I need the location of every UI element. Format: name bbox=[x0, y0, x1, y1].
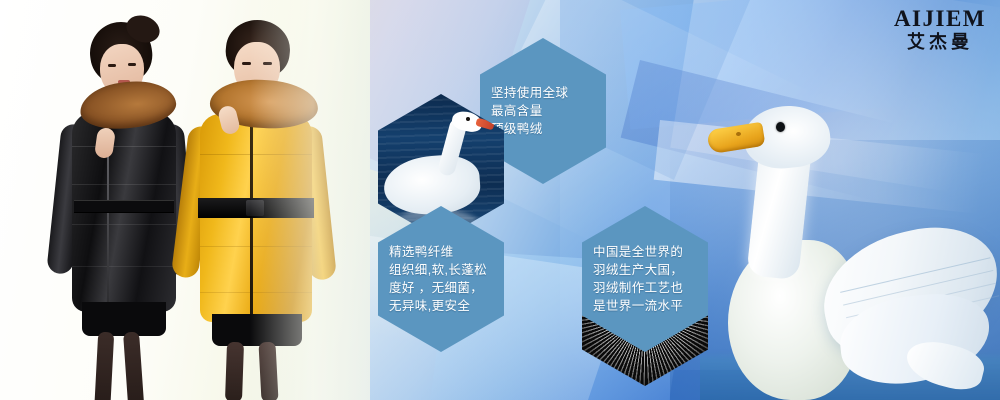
hex-text-line: 无异味,更安全 bbox=[389, 297, 493, 315]
model-skirt bbox=[82, 302, 166, 336]
model-photo-area bbox=[0, 0, 370, 400]
photo-blend-fade bbox=[250, 0, 370, 400]
hex-text-line: 坚持使用全球 bbox=[491, 84, 595, 102]
hex-text-line: 度好 ，无细菌， bbox=[389, 279, 493, 297]
hex-text-bottom-right-lines: 中国是全世界的 羽绒生产大国， 羽绒制作工艺也 是世界一流水平 bbox=[593, 243, 697, 315]
brand-logo: AIJIEM 艾杰曼 bbox=[894, 6, 986, 54]
hex-text-bottom-left-lines: 精选鸭纤维 组织细,软,长蓬松 度好 ，无细菌， 无异味,更安全 bbox=[389, 243, 493, 315]
white-duck bbox=[710, 100, 1000, 400]
duck-eye bbox=[776, 122, 785, 132]
coat-belt bbox=[74, 200, 174, 213]
brand-latin-name: AIJIEM bbox=[894, 6, 986, 32]
model-leg bbox=[94, 332, 114, 400]
hex-text-line: 羽绒制作工艺也 bbox=[593, 279, 697, 297]
hexagon-cluster: 坚持使用全球 最高含量 顶级鸭绒 精选鸭纤 bbox=[378, 38, 708, 384]
model-leg bbox=[123, 332, 145, 400]
hex-text-line: 精选鸭纤维 bbox=[389, 243, 493, 261]
hex-text-line: 是世界一流水平 bbox=[593, 297, 697, 315]
model-leg bbox=[225, 342, 244, 400]
hex-text-bottom-left: 精选鸭纤维 组织细,软,长蓬松 度好 ，无细菌， 无异味,更安全 bbox=[378, 206, 504, 352]
hex-text-top-lines: 坚持使用全球 最高含量 顶级鸭绒 bbox=[491, 84, 595, 138]
model-eye bbox=[128, 63, 136, 66]
hex-text-line: 中国是全世界的 bbox=[593, 243, 697, 261]
hex-text-line: 组织细,软,长蓬松 bbox=[389, 261, 493, 279]
model-eye bbox=[108, 64, 116, 67]
model-black-coat bbox=[38, 20, 178, 400]
swan-eye bbox=[466, 117, 470, 121]
hex-text-line: 最高含量 bbox=[491, 102, 595, 120]
hex-text-line: 羽绒生产大国， bbox=[593, 261, 697, 279]
promo-banner: 坚持使用全球 最高含量 顶级鸭绒 精选鸭纤 bbox=[0, 0, 1000, 400]
hex-text-line: 顶级鸭绒 bbox=[491, 120, 595, 138]
brand-cjk-name: 艾杰曼 bbox=[894, 32, 986, 54]
duck-photo-area bbox=[700, 96, 1000, 400]
